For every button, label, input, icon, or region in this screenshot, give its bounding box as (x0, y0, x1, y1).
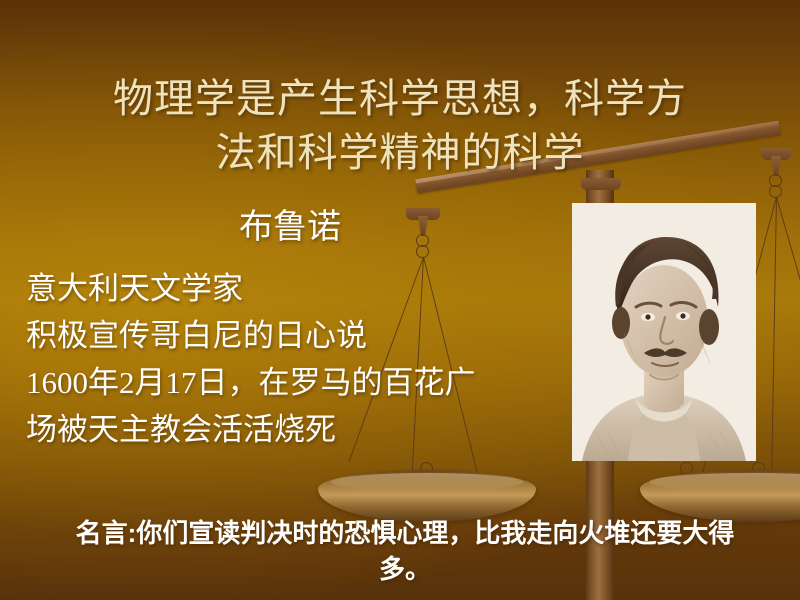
portrait-image (572, 203, 756, 461)
body-line-3: 1600年2月17日，在罗马的百花广 场被天主教会活活烧死 (26, 359, 586, 453)
famous-quote: 名言:你们宣读判决时的恐惧心理，比我走向火堆还要大得多。 (60, 516, 750, 588)
scale-pan-left (318, 470, 536, 522)
body-content: 意大利天文学家 积极宣传哥白尼的日心说 1600年2月17日，在罗马的百花广 场… (26, 265, 586, 453)
body-line-2: 积极宣传哥白尼的日心说 (26, 312, 586, 359)
scale-right-string-b (771, 197, 777, 479)
scale-right-string-c (776, 197, 800, 476)
scale-center-cap (581, 178, 621, 190)
page-title: 物理学是产生科学思想，科学方 法和科学精神的科学 (30, 72, 770, 179)
scale-pan-right (640, 470, 800, 522)
slide-subtitle: 布鲁诺 (30, 208, 550, 249)
presentation-slide: 物理学是产生科学思想，科学方 法和科学精神的科学 布鲁诺 意大利天文学家 积极宣… (0, 0, 800, 600)
body-line-1: 意大利天文学家 (26, 265, 586, 312)
